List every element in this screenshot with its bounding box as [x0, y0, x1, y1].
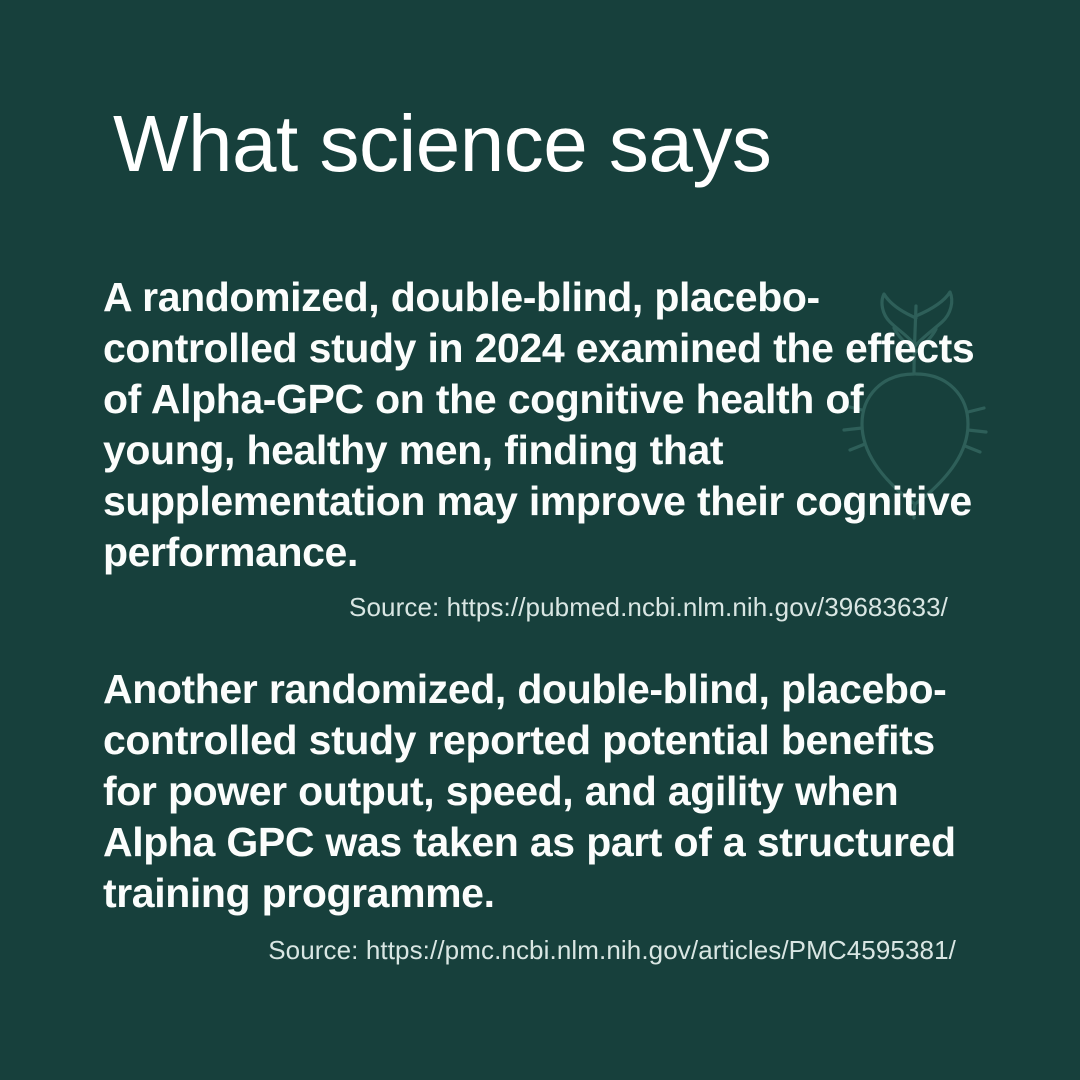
source-citation-1[interactable]: Source: https://pubmed.ncbi.nlm.nih.gov/… [103, 578, 948, 624]
claim-text-2: Another randomized, double-blind, placeb… [103, 664, 981, 919]
page-title: What science says [113, 104, 771, 184]
source-citation-2[interactable]: Source: https://pmc.ncbi.nlm.nih.gov/art… [103, 919, 956, 967]
claim-text-1: A randomized, double-blind, placebo-cont… [103, 272, 981, 578]
slide-content: What science says A randomized, double-b… [0, 0, 1080, 1080]
science-says-slide: What science says A randomized, double-b… [0, 0, 1080, 1080]
claim-block-2: Another randomized, double-blind, placeb… [103, 664, 987, 967]
claim-block-1: A randomized, double-blind, placebo-cont… [103, 272, 987, 624]
